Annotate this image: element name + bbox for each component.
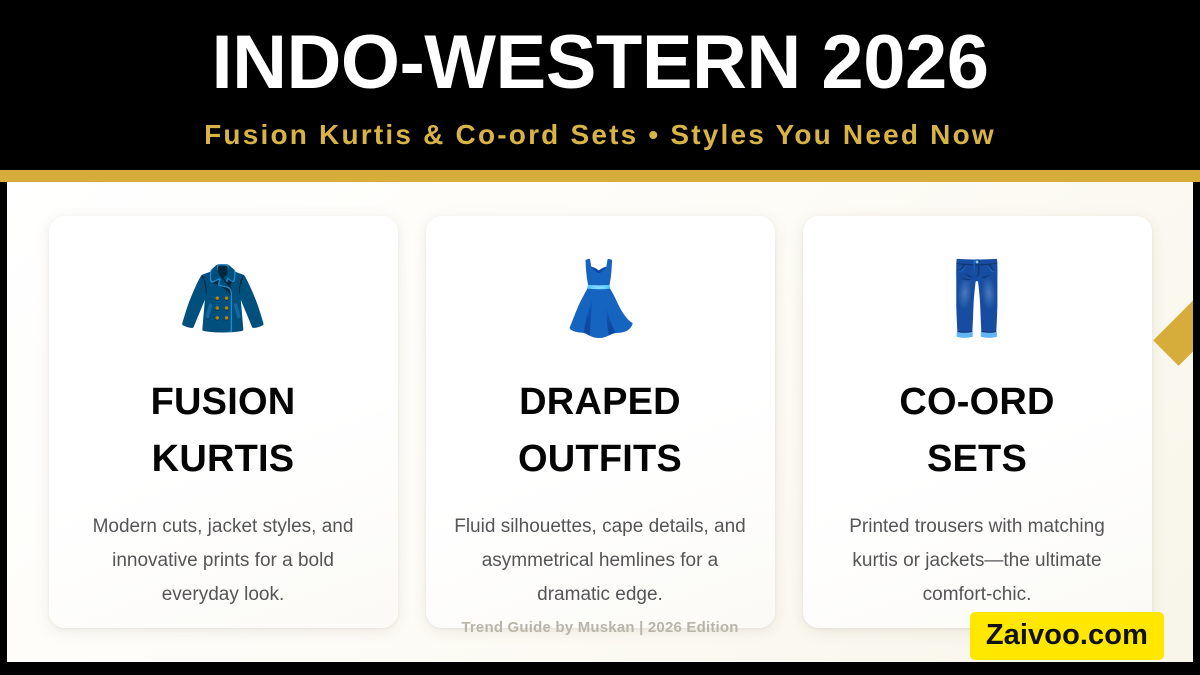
page-subtitle: Fusion Kurtis & Co-ord Sets • Styles You…	[204, 118, 996, 152]
card-fusion-kurtis[interactable]: 🧥 FUSION KURTIS Modern cuts, jacket styl…	[49, 216, 398, 628]
frame-edge-left	[0, 182, 7, 662]
watermark-badge[interactable]: Zaivoo.com	[970, 612, 1164, 660]
card-co-ord-sets[interactable]: 👖 CO-ORD SETS Printed trousers with matc…	[803, 216, 1152, 628]
coat-emoji: 🧥	[178, 258, 268, 340]
poster-canvas: INDO-WESTERN 2026 Fusion Kurtis & Co-ord…	[0, 0, 1200, 675]
card-description: Modern cuts, jacket styles, and innovati…	[73, 510, 373, 612]
page-title: INDO-WESTERN 2026	[212, 20, 989, 106]
gold-divider	[0, 170, 1200, 182]
content-stage: 🧥 FUSION KURTIS Modern cuts, jacket styl…	[0, 182, 1200, 662]
frame-edge-bottom	[0, 662, 1200, 675]
card-description: Printed trousers with matching kurtis or…	[827, 510, 1127, 612]
card-description: Fluid silhouettes, cape details, and asy…	[450, 510, 750, 612]
card-draped-outfits[interactable]: 👗 DRAPED OUTFITS Fluid silhouettes, cape…	[426, 216, 775, 628]
card-title: FUSION KURTIS	[103, 374, 343, 488]
card-title: DRAPED OUTFITS	[480, 374, 720, 488]
card-list: 🧥 FUSION KURTIS Modern cuts, jacket styl…	[0, 182, 1200, 662]
card-title: CO-ORD SETS	[857, 374, 1097, 488]
frame-edge-right	[1193, 182, 1200, 662]
jeans-emoji: 👖	[932, 258, 1022, 340]
dress-emoji: 👗	[555, 258, 645, 340]
poster-header: INDO-WESTERN 2026 Fusion Kurtis & Co-ord…	[0, 0, 1200, 170]
